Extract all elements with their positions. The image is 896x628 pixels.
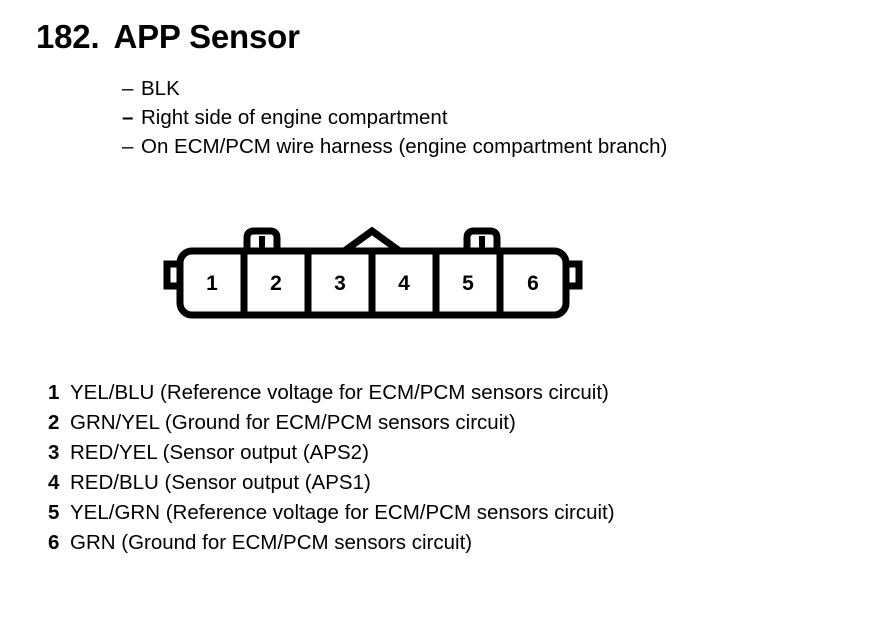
- legend-pin-description: GRN (Ground for ECM/PCM sensors circuit): [70, 528, 472, 558]
- connector-pin-5: 5: [462, 272, 474, 295]
- connector-pin-2: 2: [270, 272, 282, 295]
- legend-pin-number: 4: [48, 468, 70, 498]
- legend-pin-description: RED/YEL (Sensor output (APS2): [70, 438, 369, 468]
- dash-bullet: –: [122, 103, 141, 132]
- location-item-label: On ECM/PCM wire harness (engine compartm…: [141, 132, 667, 161]
- legend-row: 6 GRN (Ground for ECM/PCM sensors circui…: [48, 528, 848, 558]
- legend-pin-number: 5: [48, 498, 70, 528]
- legend-pin-number: 6: [48, 528, 70, 558]
- connector-pin-3: 3: [334, 272, 346, 295]
- legend-pin-description: YEL/GRN (Reference voltage for ECM/PCM s…: [70, 498, 615, 528]
- legend-pin-number: 1: [48, 378, 70, 408]
- legend-row: 1 YEL/BLU (Reference voltage for ECM/PCM…: [48, 378, 848, 408]
- location-list: – BLK – Right side of engine compartment…: [122, 74, 862, 161]
- legend-row: 2 GRN/YEL (Ground for ECM/PCM sensors ci…: [48, 408, 848, 438]
- connector-pin-6: 6: [527, 272, 539, 295]
- legend-pin-description: GRN/YEL (Ground for ECM/PCM sensors circ…: [70, 408, 516, 438]
- legend-row: 4 RED/BLU (Sensor output (APS1): [48, 468, 848, 498]
- legend-row: 5 YEL/GRN (Reference voltage for ECM/PCM…: [48, 498, 848, 528]
- page-title: 182.APP Sensor: [36, 18, 300, 56]
- legend-pin-description: RED/BLU (Sensor output (APS1): [70, 468, 371, 498]
- legend-pin-number: 3: [48, 438, 70, 468]
- connector-pin-4: 4: [398, 272, 410, 295]
- legend-pin-description: YEL/BLU (Reference voltage for ECM/PCM s…: [70, 378, 609, 408]
- page-title-text: APP Sensor: [113, 18, 299, 55]
- location-item: – On ECM/PCM wire harness (engine compar…: [122, 132, 862, 161]
- legend-pin-number: 2: [48, 408, 70, 438]
- legend-row: 3 RED/YEL (Sensor output (APS2): [48, 438, 848, 468]
- location-item: – Right side of engine compartment: [122, 103, 862, 132]
- pin-legend: 1 YEL/BLU (Reference voltage for ECM/PCM…: [48, 378, 848, 558]
- page-title-number: 182.: [36, 18, 99, 55]
- location-item: – BLK: [122, 74, 862, 103]
- connector-diagram: 1 2 3 4 5 6: [158, 218, 588, 328]
- connector-pin-1: 1: [206, 272, 218, 295]
- connector-svg: 1 2 3 4 5 6: [158, 218, 588, 328]
- location-item-label: Right side of engine compartment: [141, 103, 448, 132]
- location-item-label: BLK: [141, 74, 180, 103]
- dash-bullet: –: [122, 132, 141, 161]
- dash-bullet: –: [122, 74, 141, 103]
